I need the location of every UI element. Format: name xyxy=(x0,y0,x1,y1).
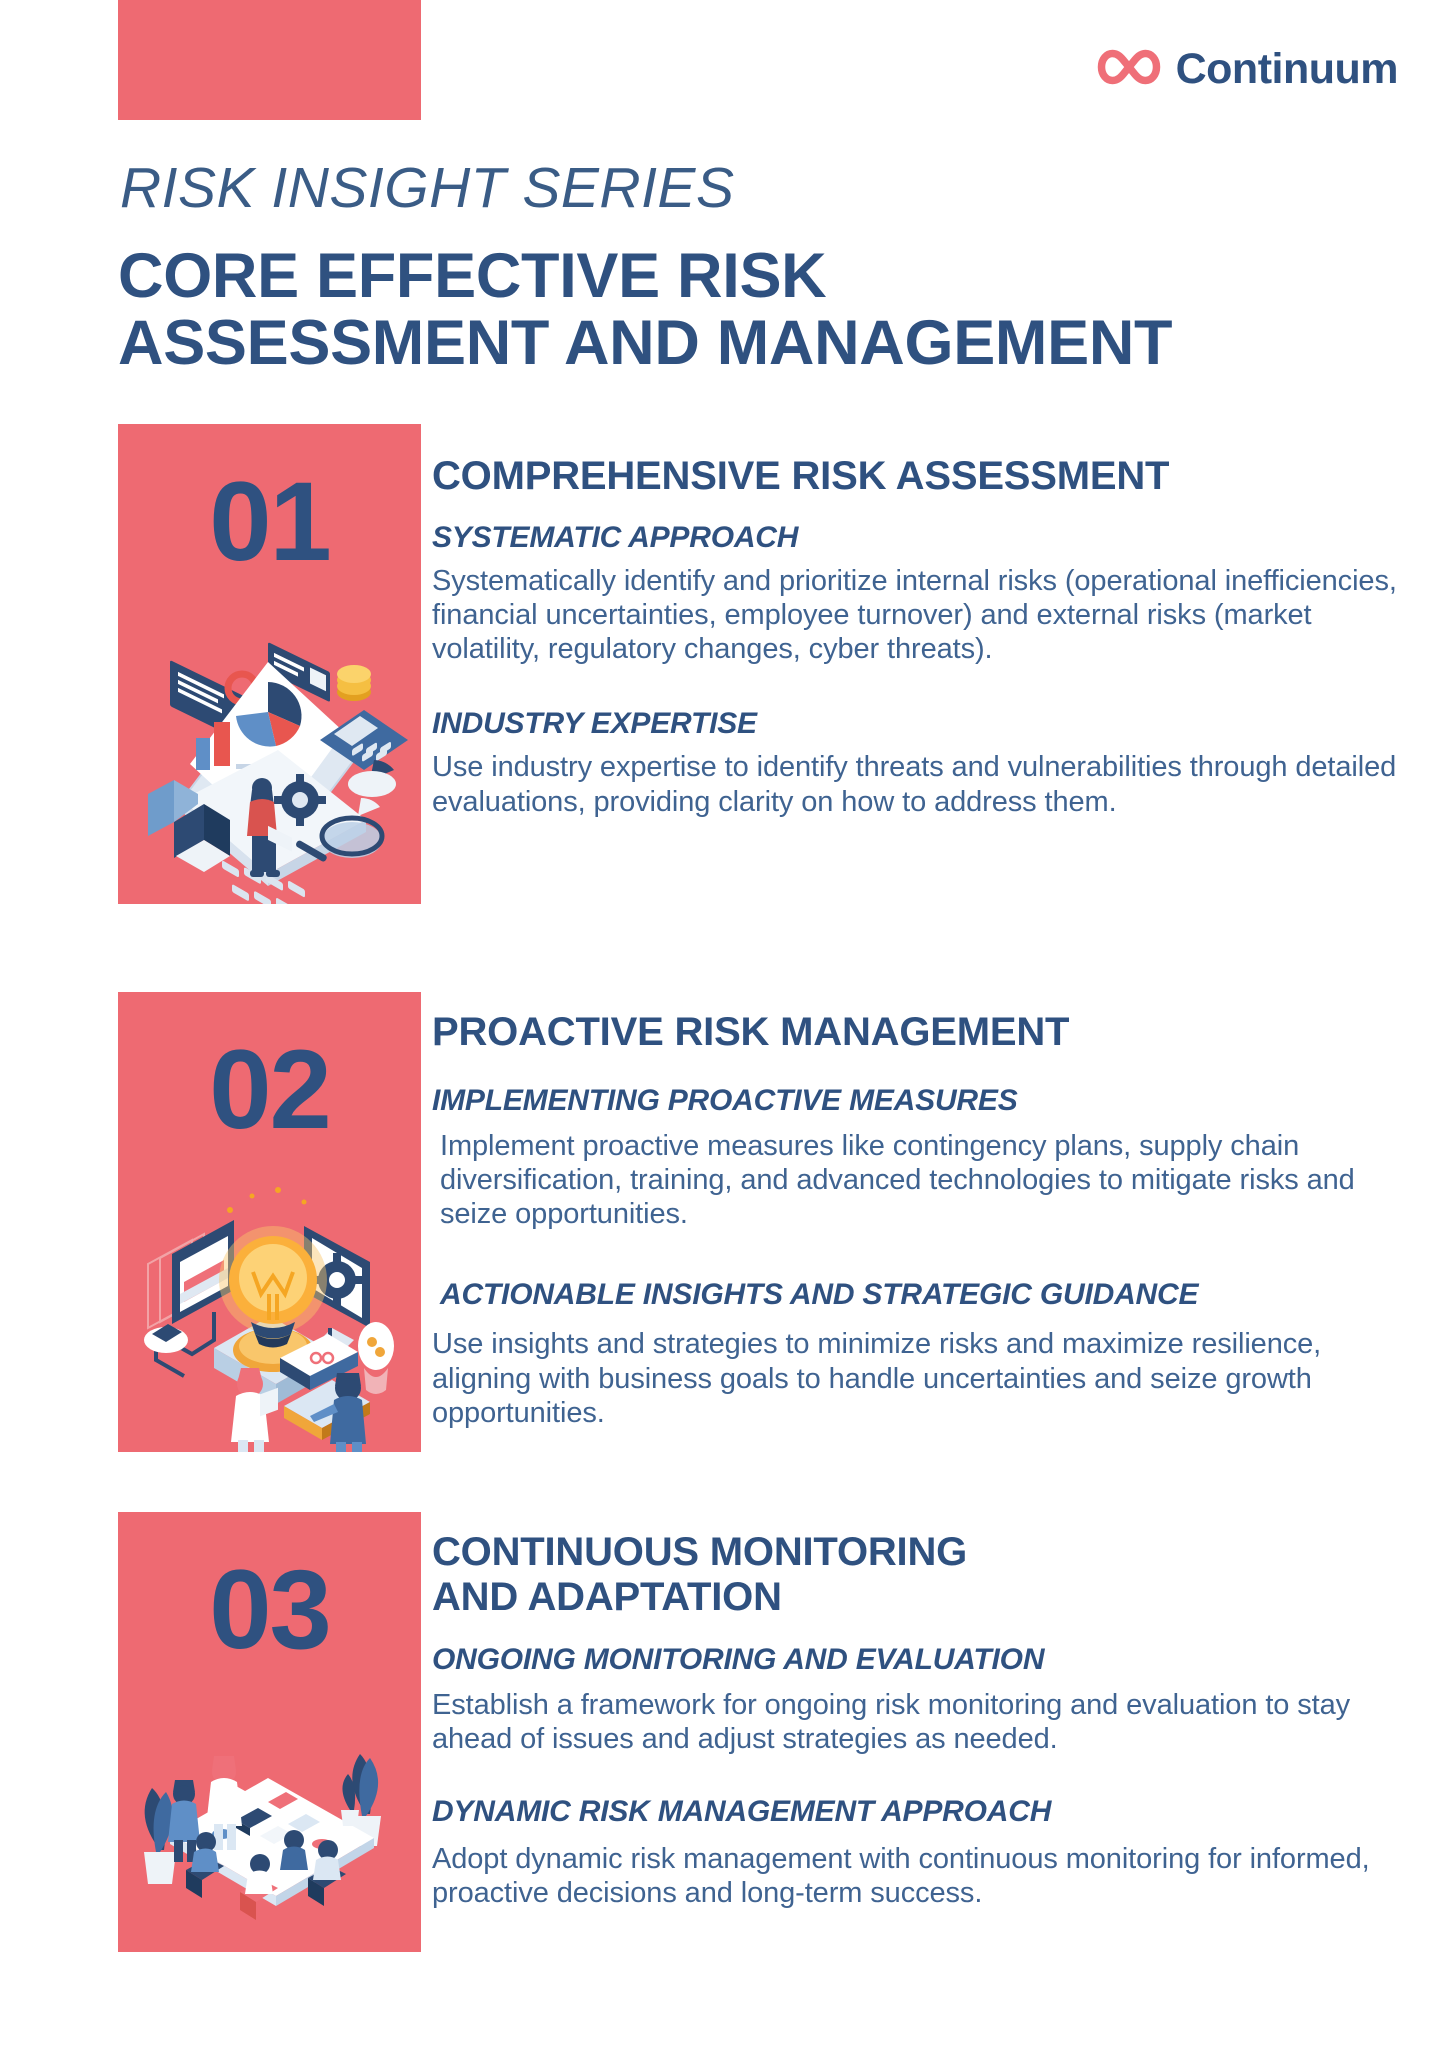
section-02-content: PROACTIVE RISK MANAGEMENT IMPLEMENTING P… xyxy=(432,1010,1402,1430)
section-03-content: CONTINUOUS MONITORING AND ADAPTATION ONG… xyxy=(432,1530,1402,1910)
section-02-text-2: Use insights and strategies to minimize … xyxy=(432,1327,1402,1430)
section-01-subhead-1: SYSTEMATIC APPROACH xyxy=(432,520,1402,556)
section-02-text-1: Implement proactive measures like contin… xyxy=(432,1129,1402,1232)
page-title: CORE EFFECTIVE RISK ASSESSMENT AND MANAG… xyxy=(118,243,1408,377)
section-02-block-1: IMPLEMENTING PROACTIVE MEASURES Implemen… xyxy=(432,1083,1402,1232)
section-02-subhead-2: ACTIONABLE INSIGHTS AND STRATEGIC GUIDAN… xyxy=(432,1277,1402,1313)
section-03-block-1: ONGOING MONITORING AND EVALUATION Establ… xyxy=(432,1642,1402,1756)
section-03-badge: 03 xyxy=(118,1512,421,1952)
section-01-number: 01 xyxy=(118,424,421,578)
section-02-block-2: ACTIONABLE INSIGHTS AND STRATEGIC GUIDAN… xyxy=(432,1277,1402,1430)
infinity-icon xyxy=(1096,48,1162,91)
section-02-subhead-1: IMPLEMENTING PROACTIVE MEASURES xyxy=(432,1083,1402,1119)
section-01-text-1: Systematically identify and prioritize i… xyxy=(432,564,1402,667)
header-accent-block xyxy=(118,0,421,120)
section-03-title-line-2: AND ADAPTATION xyxy=(432,1575,1402,1620)
team-meeting-illustration xyxy=(118,1702,421,1952)
section-01-text-2: Use industry expertise to identify threa… xyxy=(432,750,1402,818)
section-03-subhead-1: ONGOING MONITORING AND EVALUATION xyxy=(432,1642,1402,1678)
eyebrow-heading: RISK INSIGHT SERIES xyxy=(120,155,734,221)
section-01-block-1: SYSTEMATIC APPROACH Systematically ident… xyxy=(432,520,1402,667)
section-01-title: COMPREHENSIVE RISK ASSESSMENT xyxy=(432,454,1402,499)
infographic-page: Continuum RISK INSIGHT SERIES CORE EFFEC… xyxy=(0,0,1448,2048)
logo-wordmark: Continuum xyxy=(1176,48,1398,91)
lightbulb-innovation-illustration xyxy=(118,1162,421,1452)
page-title-line-2: ASSESSMENT AND MANAGEMENT xyxy=(118,310,1408,377)
section-02-number: 02 xyxy=(118,992,421,1146)
section-03-text-1: Establish a framework for ongoing risk m… xyxy=(432,1688,1402,1756)
laptop-analytics-illustration xyxy=(118,604,421,904)
section-03-title-line-1: CONTINUOUS MONITORING xyxy=(432,1530,1402,1575)
section-01-block-2: INDUSTRY EXPERTISE Use industry expertis… xyxy=(432,706,1402,818)
section-01-content: COMPREHENSIVE RISK ASSESSMENT SYSTEMATIC… xyxy=(432,454,1402,819)
section-03-subhead-2: DYNAMIC RISK MANAGEMENT APPROACH xyxy=(432,1794,1402,1830)
section-02-badge: 02 xyxy=(118,992,421,1452)
section-01-subhead-2: INDUSTRY EXPERTISE xyxy=(432,706,1402,742)
section-03-title: CONTINUOUS MONITORING AND ADAPTATION xyxy=(432,1530,1402,1620)
brand-logo: Continuum xyxy=(1096,48,1398,91)
section-03-number: 03 xyxy=(118,1512,421,1666)
section-01-badge: 01 xyxy=(118,424,421,904)
section-03-block-2: DYNAMIC RISK MANAGEMENT APPROACH Adopt d… xyxy=(432,1794,1402,1910)
section-03-text-2: Adopt dynamic risk management with conti… xyxy=(432,1842,1402,1910)
page-title-line-1: CORE EFFECTIVE RISK xyxy=(118,243,1408,310)
section-02-title: PROACTIVE RISK MANAGEMENT xyxy=(432,1010,1402,1055)
